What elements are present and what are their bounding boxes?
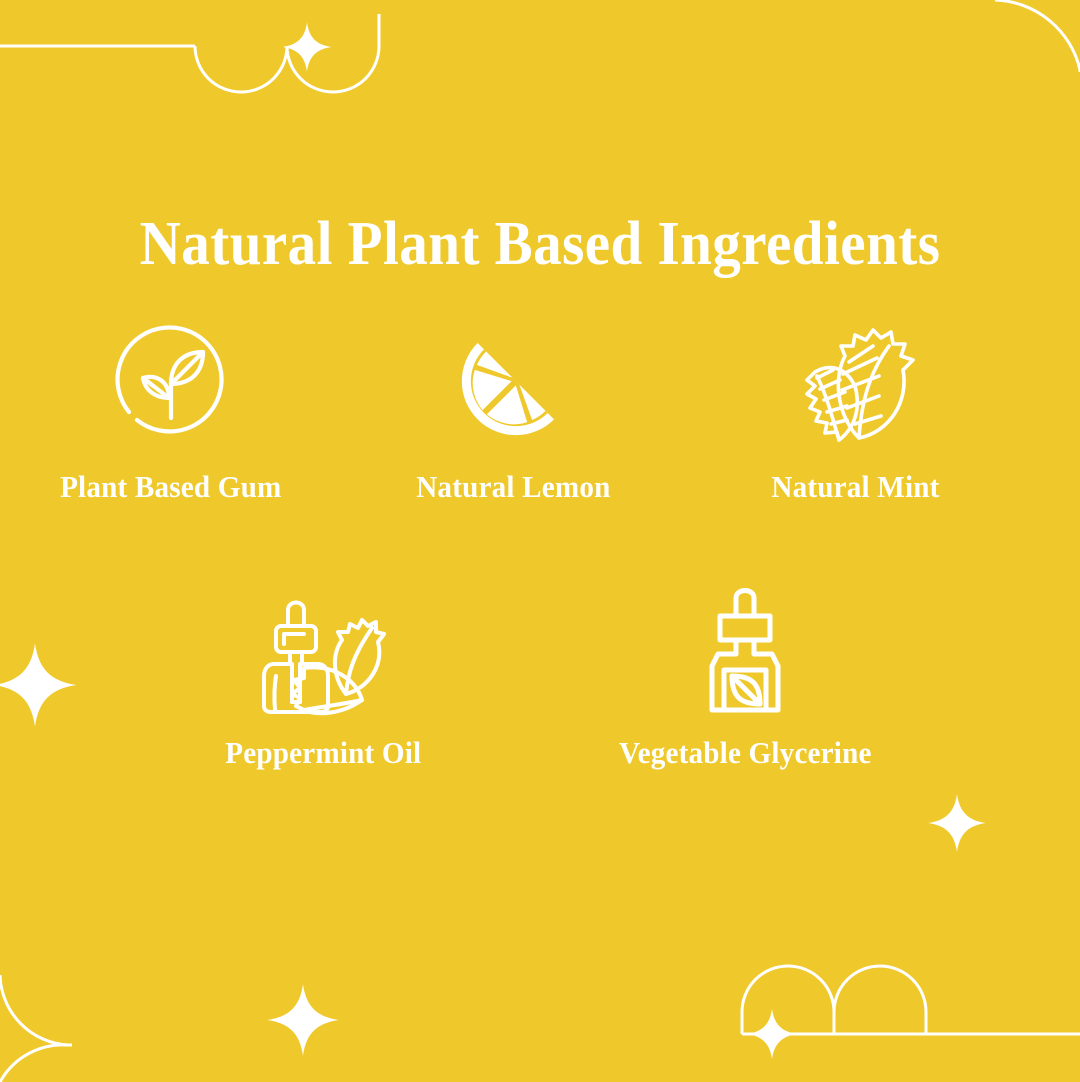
- ingredient-item-vegetable-glycerine: Vegetable Glycerine: [534, 584, 956, 772]
- ingredient-label: Natural Mint: [771, 468, 939, 506]
- dropper-bottle-with-leaves-icon: [248, 584, 398, 716]
- ingredients-grid: Plant Based Gum: [0, 318, 1080, 772]
- ingredient-label: Peppermint Oil: [225, 734, 421, 772]
- ingredients-poster: Natural Plant Based Ingredients: [0, 0, 1080, 1082]
- bottom-left-corner-decoration: [0, 975, 72, 1082]
- ingredients-row-1: Plant Based Gum: [0, 318, 1080, 506]
- top-left-arches-decoration: [0, 14, 379, 92]
- plant-sprout-in-circle-icon: [107, 320, 235, 448]
- ingredient-item-peppermint-oil: Peppermint Oil: [112, 584, 534, 772]
- ingredient-label: Vegetable Glycerine: [619, 734, 872, 772]
- sparkle-top-left-arches-icon: [283, 23, 332, 72]
- bottom-right-arches-decoration: [742, 966, 1080, 1034]
- icon-container: [248, 584, 398, 716]
- icon-container: [449, 318, 577, 450]
- icon-container: [690, 584, 800, 716]
- icon-container: [785, 318, 925, 450]
- page-title: Natural Plant Based Ingredients: [43, 206, 1037, 282]
- sparkle-right-lower-icon: [928, 794, 986, 852]
- ingredients-row-2: Peppermint Oil: [0, 584, 1080, 772]
- ingredient-label: Natural Lemon: [416, 468, 610, 506]
- sparkle-bottom-right-arches-icon: [747, 1009, 797, 1059]
- sparkle-bottom-center-icon: [267, 984, 338, 1055]
- ingredient-item-natural-mint: Natural Mint: [684, 318, 1026, 506]
- dropper-bottle-with-leaf-icon: [690, 584, 800, 716]
- ingredient-item-plant-based-gum: Plant Based Gum: [0, 318, 342, 506]
- mint-leaves-icon: [785, 320, 925, 448]
- top-right-corner-decoration: [995, 0, 1080, 72]
- icon-container: [107, 318, 235, 450]
- ingredient-item-natural-lemon: Natural Lemon: [342, 318, 684, 506]
- lemon-slice-icon: [449, 320, 577, 448]
- ingredient-label: Plant Based Gum: [60, 468, 281, 506]
